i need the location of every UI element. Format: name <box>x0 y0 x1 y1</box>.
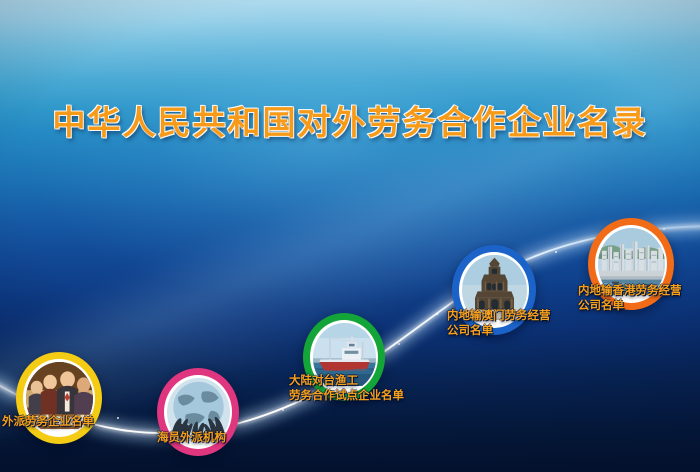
badge-label: 海员外派机构 <box>157 430 226 445</box>
badge-label-line2: 公司名单 <box>578 298 682 313</box>
poster-title-wrap: 中华人民共和国对外劳务合作企业名录 <box>0 96 700 144</box>
badge-label-line1: 内地输澳门劳务经营 <box>447 308 551 323</box>
badge-label-line1: 内地输香港劳务经营 <box>578 283 682 298</box>
badge-label-line1: 外派劳务企业名单 <box>2 414 94 429</box>
poster-title: 中华人民共和国对外劳务合作企业名录 <box>53 96 648 144</box>
badge-neidi-shu-xianggang[interactable]: 内地输香港劳务经营 公司名单 <box>588 218 674 310</box>
badge-waipai-laowu[interactable]: 外派劳务企业名单 <box>16 352 102 444</box>
badge-label: 大陆对台渔工 劳务合作试点企业名单 <box>289 373 404 403</box>
badge-neidi-shu-aomen[interactable]: 内地输澳门劳务经营 公司名单 <box>452 245 536 335</box>
badge-label-line1: 大陆对台渔工 <box>289 373 404 388</box>
badge-label-line2: 劳务合作试点企业名单 <box>289 388 404 403</box>
badge-label-line1: 海员外派机构 <box>157 430 226 445</box>
badge-label-line2: 公司名单 <box>447 323 551 338</box>
badge-label: 外派劳务企业名单 <box>2 414 94 429</box>
badge-ring <box>16 352 102 444</box>
badge-label: 内地输澳门劳务经营 公司名单 <box>447 308 551 338</box>
poster-canvas: 中华人民共和国对外劳务合作企业名录 <box>0 0 700 472</box>
badge-label: 内地输香港劳务经营 公司名单 <box>578 283 682 313</box>
badge-haiyuan-waipai[interactable]: 海员外派机构 <box>157 368 239 456</box>
badge-dalu-duitai-yugong[interactable]: 大陆对台渔工 劳务合作试点企业名单 <box>303 313 385 401</box>
